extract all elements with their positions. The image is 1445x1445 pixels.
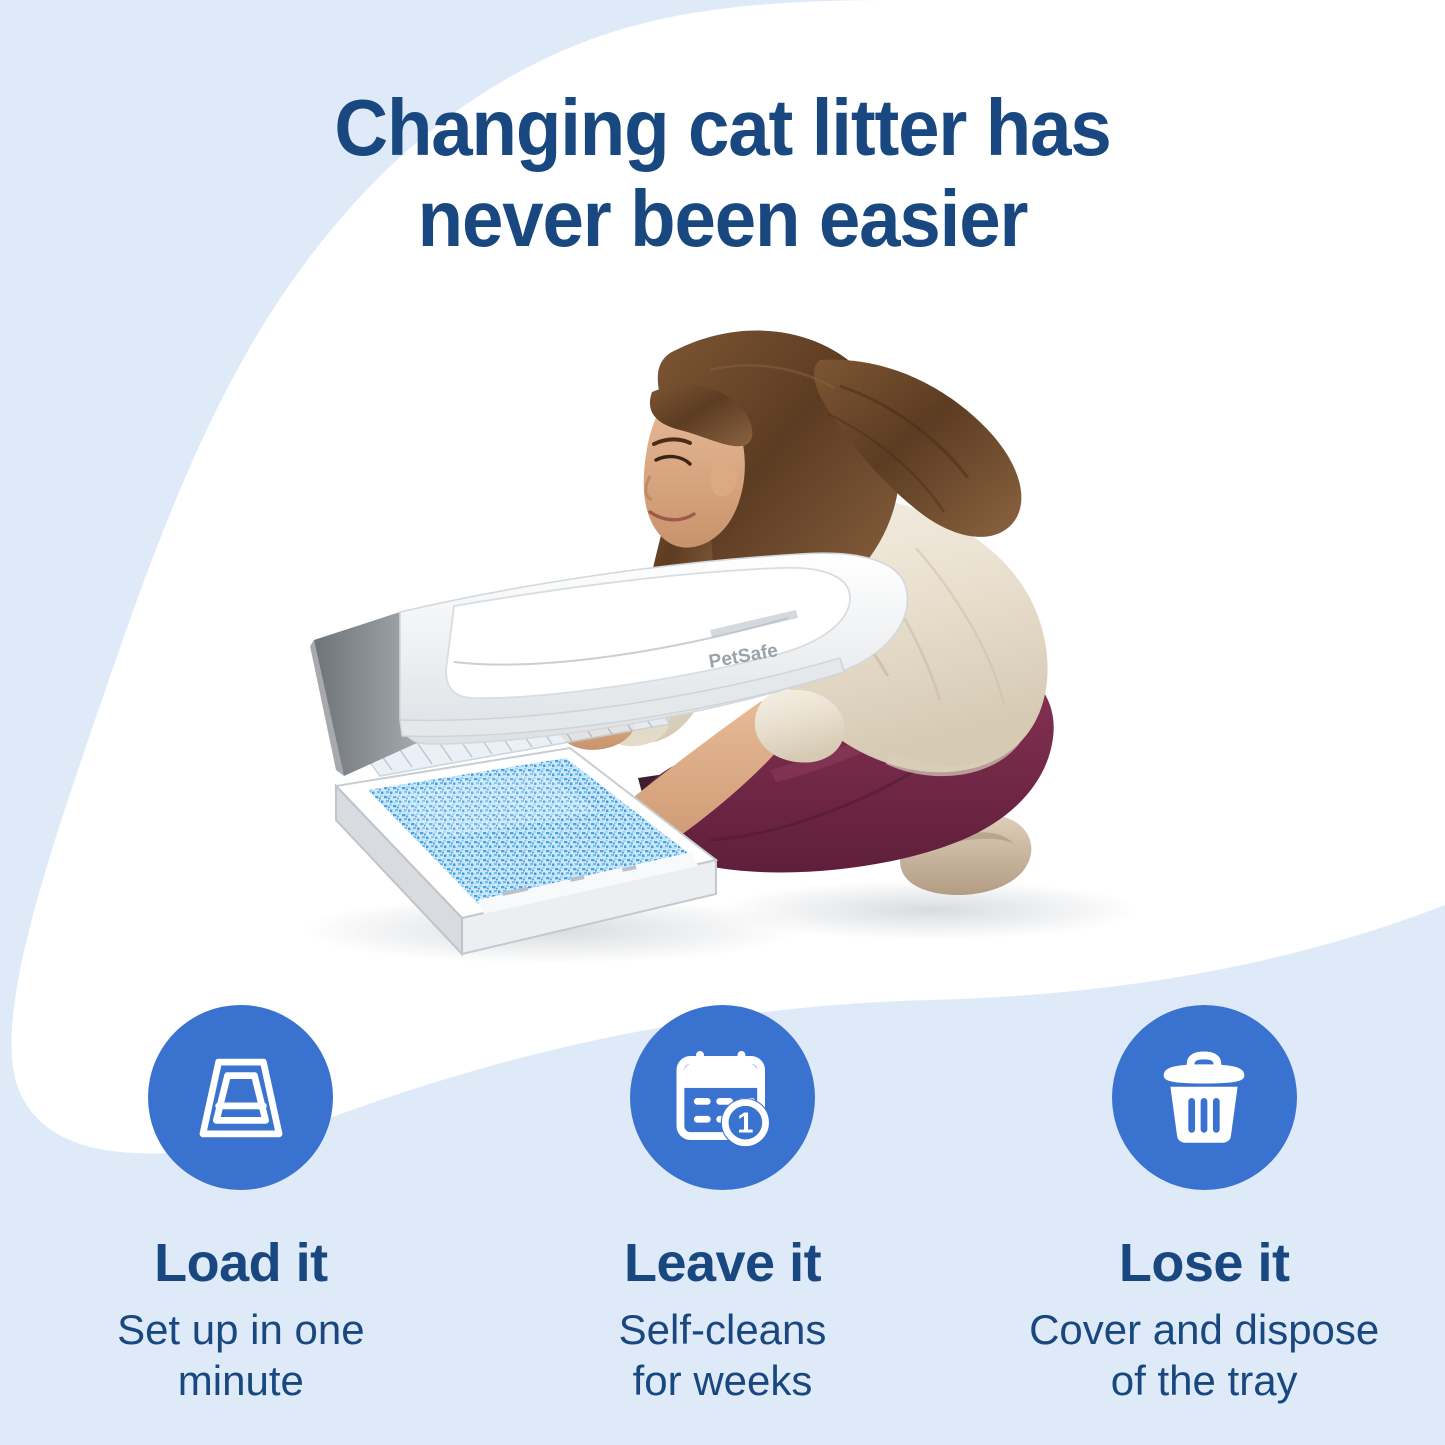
feature-desc-leave: Self-cleans for weeks (619, 1304, 827, 1406)
feature-desc-load-line1: Set up in one (117, 1306, 365, 1353)
litter-tray-icon (185, 1042, 297, 1154)
feature-lose-it: Lose it Cover and dispose of the tray (963, 1005, 1445, 1406)
feature-desc-lose-line1: Cover and dispose (1029, 1306, 1379, 1353)
feature-icon-circle-lose (1112, 1005, 1297, 1190)
feature-load-it: Load it Set up in one minute (0, 1005, 482, 1406)
feature-desc-leave-line1: Self-cleans (619, 1306, 827, 1353)
trash-can-icon (1148, 1042, 1260, 1154)
feature-desc-load: Set up in one minute (117, 1304, 365, 1406)
feature-title-load: Load it (154, 1236, 327, 1290)
hero-product-photo: PetSafe (240, 300, 1200, 980)
feature-desc-leave-line2: for weeks (633, 1357, 813, 1404)
feature-title-lose: Lose it (1119, 1236, 1290, 1290)
feature-desc-lose-line2: of the tray (1111, 1357, 1298, 1404)
feature-leave-it: 1 Leave it Self-cleans for weeks (482, 1005, 964, 1406)
feature-title-leave: Leave it (624, 1236, 821, 1290)
calendar-badge-number: 1 (737, 1107, 753, 1139)
headline-line-2: never been easier (51, 173, 1395, 264)
feature-icon-circle-load (148, 1005, 333, 1190)
feature-desc-lose: Cover and dispose of the tray (1029, 1304, 1379, 1406)
feature-icon-circle-leave: 1 (630, 1005, 815, 1190)
page-title: Changing cat litter has never been easie… (51, 82, 1395, 264)
feature-row: Load it Set up in one minute (0, 1005, 1445, 1406)
headline-line-1: Changing cat litter has (51, 82, 1395, 173)
feature-desc-load-line2: minute (178, 1357, 304, 1404)
calendar-one-icon: 1 (667, 1042, 779, 1154)
